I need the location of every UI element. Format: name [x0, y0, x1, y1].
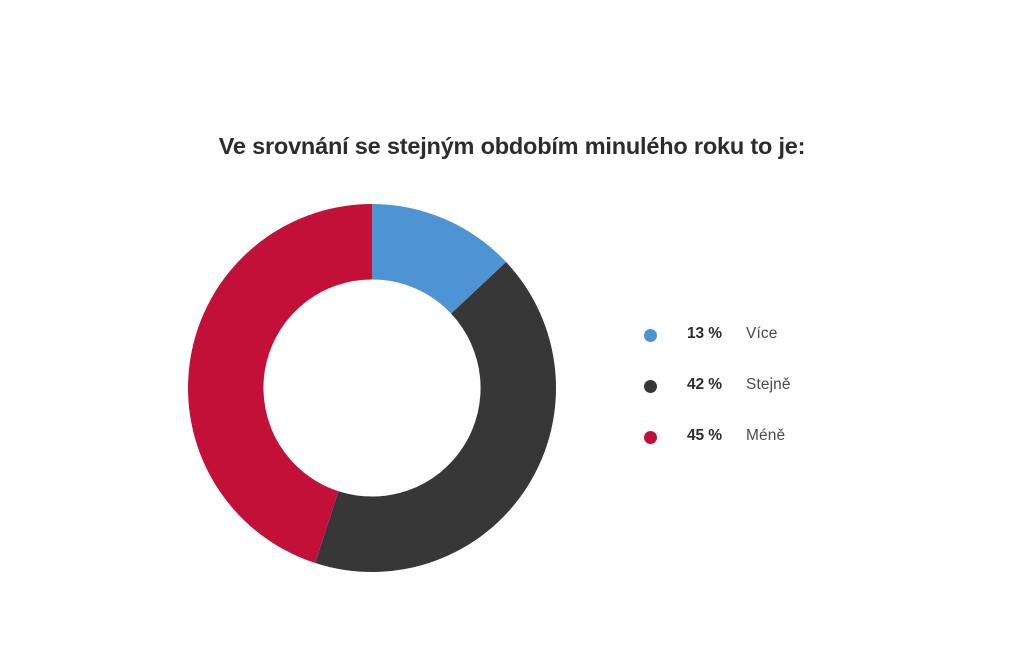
circle-swatch-icon: [644, 380, 657, 393]
donut-svg: Více 13 %Stejně 42 %Méně 45 %: [188, 204, 556, 572]
circle-swatch-icon: [644, 329, 657, 342]
circle-swatch-icon: [644, 431, 657, 444]
chart-title: Ve srovnání se stejným obdobím minulého …: [0, 131, 1024, 161]
donut-slice-2[interactable]: Stejně 42 %: [315, 262, 556, 572]
legend-item-value: 45 %: [687, 427, 735, 445]
donut-chart-figure: Ve srovnání se stejným obdobím minulého …: [0, 0, 1024, 661]
donut-chart-plot: Více 13 %Stejně 42 %Méně 45 %: [188, 204, 556, 572]
legend-item-3[interactable]: 45 %Méně: [644, 427, 894, 478]
chart-legend: 13 %Více42 %Stejně45 %Méně: [644, 325, 894, 478]
legend-item-value: 42 %: [687, 376, 735, 394]
legend-item-label: Více: [746, 325, 777, 343]
legend-item-1[interactable]: 13 %Více: [644, 325, 894, 376]
donut-slice-group: Více 13 %Stejně 42 %Méně 45 %: [188, 204, 556, 572]
legend-item-label: Stejně: [746, 376, 791, 394]
legend-item-label: Méně: [746, 427, 785, 445]
legend-item-value: 13 %: [687, 325, 735, 343]
legend-item-2[interactable]: 42 %Stejně: [644, 376, 894, 427]
